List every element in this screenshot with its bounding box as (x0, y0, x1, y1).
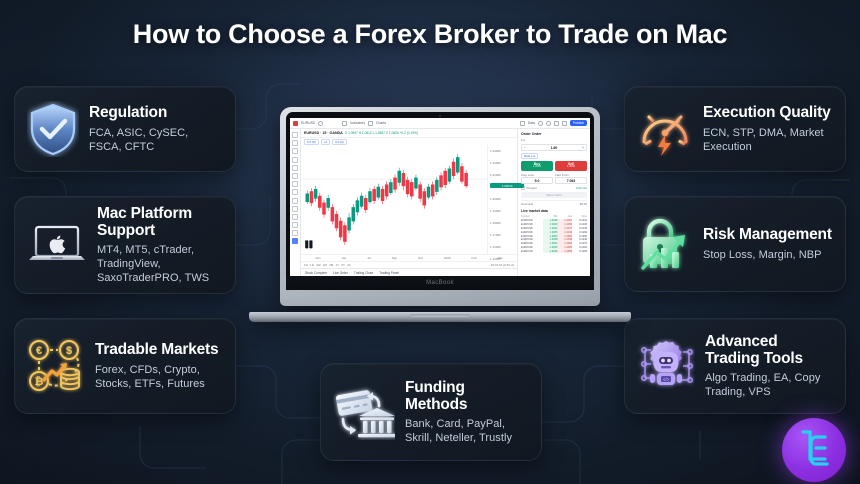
data-label[interactable]: Data (528, 121, 535, 125)
macbook-screen: EURUSD Indicators Charts Data (290, 118, 590, 276)
sl-tp-row: Stop Loss 5.0 Take Profit 7.063 (521, 173, 587, 184)
time-tick: Nov (418, 256, 423, 260)
app-toolbar: EURUSD Indicators Charts Data (290, 118, 590, 129)
trendline-tool-icon[interactable] (292, 140, 298, 146)
card-desc: MT4, MT5, cTrader, TradingView, SaxoTrad… (97, 243, 223, 285)
chart-clock-label: 18:44:15 (UTC-0) (491, 263, 514, 267)
lot-increment-icon[interactable]: + (582, 146, 584, 150)
price-tick: 1.18000 (490, 221, 501, 225)
price-axis[interactable]: 1.24000 1.23000 1.22000 1.20000 1.19000 … (487, 145, 517, 254)
objects-tree-icon[interactable] (292, 238, 298, 244)
balance-value: $8.35 (580, 202, 587, 206)
range-button[interactable]: 3M (329, 263, 333, 267)
time-tick: Nov (315, 256, 320, 260)
publish-button[interactable]: Publish (570, 120, 587, 126)
macbook-apple-icon (27, 221, 87, 269)
svg-text:€: € (36, 345, 42, 357)
table-row[interactable]: EUR/USD1.20461.20590.1136 (521, 250, 587, 254)
price-tick: 1.19000 (490, 209, 501, 213)
forecast-tool-icon[interactable] (292, 165, 298, 171)
measure-tool-icon[interactable] (292, 198, 298, 204)
lot-label: Lot (521, 138, 587, 142)
buy-price: 1.2064 (533, 166, 541, 169)
shield-check-icon (27, 101, 79, 157)
chart-chip-bar: 5 0 (9) +4 0 0 (0) (301, 138, 517, 145)
fib-tool-icon[interactable] (292, 148, 298, 154)
chart-chip[interactable]: 0 0 (0) (332, 139, 347, 145)
undo-icon[interactable] (389, 121, 394, 126)
tab-trading-panel[interactable]: Trading Panel (379, 271, 399, 275)
chart-plot-area[interactable]: 1.24000 1.23000 1.22000 1.20000 1.19000 … (301, 145, 517, 254)
card-desc: Bank, Card, PayPal, Skrill, Neteller, Tr… (405, 417, 529, 445)
candlestick-plot[interactable] (301, 145, 487, 254)
price-tick: 1.20000 (490, 197, 501, 201)
macbook-chin: MacBook (286, 276, 594, 290)
card-desc: ECN, STP, DMA, Market Execution (703, 126, 833, 154)
lot-mode-chip[interactable]: Rate Lot (521, 153, 538, 159)
gear-icon[interactable] (546, 121, 551, 126)
sell-price: 1.2062 (567, 166, 575, 169)
range-button[interactable]: 1Y (335, 263, 339, 267)
webcam-dot (439, 115, 442, 118)
price-tick: 1.17000 (490, 233, 501, 237)
fullscreen-icon[interactable] (554, 121, 559, 126)
time-axis[interactable]: Nov Jan Jul Sep Nov 2025 Feb Mar (301, 254, 517, 261)
price-tick: 1.15000 (490, 257, 501, 261)
interval-icon[interactable] (326, 121, 331, 126)
place-order-button[interactable]: Place Order (546, 193, 561, 197)
market-table-body: EUR/USD1.20481.20570.1231 EUR/USD1.20601… (521, 219, 587, 254)
card-risk-management[interactable]: Risk Management Stop Loss, Margin, NBP (624, 196, 846, 292)
symbol-bar: EURUSD · 15 · OANDA O 1.0597 H 1.0612 L … (301, 129, 517, 138)
live-market-table[interactable]: Symbol Bid Ask Stop EUR/USD1.20481.20570… (521, 215, 587, 253)
price-tick: 1.23000 (490, 161, 501, 165)
order-panel: Order Order Lot − 1.60 + Rate Lot (518, 129, 590, 276)
candle-type-icon[interactable] (334, 121, 339, 126)
lc-logo-icon (794, 429, 834, 471)
card-title: Mac Platform Support (97, 205, 223, 240)
range-button[interactable]: 1D (304, 263, 308, 267)
magnet-tool-icon[interactable] (292, 206, 298, 212)
camera-icon[interactable] (562, 121, 567, 126)
brand-logo-badge[interactable] (782, 418, 846, 482)
time-tick: 2025 (444, 256, 451, 260)
sell-button[interactable]: Sell 1.2062 (555, 161, 587, 171)
prepaid-label: Prepaid (527, 186, 537, 190)
time-tick: Jan (342, 256, 347, 260)
order-panel-title: Order Order (521, 132, 587, 136)
emoji-tool-icon[interactable] (292, 189, 298, 195)
macbook-lid: EURUSD Indicators Charts Data (280, 107, 600, 306)
hide-tool-icon[interactable] (292, 222, 298, 228)
card-regulation[interactable]: Regulation FCA, ASIC, CySEC, FSCA, CFTC (14, 86, 236, 172)
svg-text:</>: </> (663, 377, 670, 382)
page-title: How to Choose a Forex Broker to Trade on… (0, 19, 860, 50)
range-button[interactable]: 5Y (341, 263, 345, 267)
card-title: Risk Management (703, 226, 833, 243)
balance-label: Overview (521, 202, 533, 206)
lot-decrement-icon[interactable]: − (524, 146, 526, 150)
robot-gear-icon: </> (637, 338, 695, 394)
svg-text:₿: ₿ (35, 376, 44, 388)
card-title: Regulation (89, 104, 223, 121)
indicators-icon[interactable] (342, 121, 347, 126)
range-button[interactable]: 1W (316, 263, 321, 267)
cell-symbol: EUR/USD (521, 250, 543, 254)
cursor-tool-icon[interactable] (292, 132, 298, 138)
pattern-tool-icon[interactable] (292, 157, 298, 163)
stop-loss-value: 5.0 (535, 179, 540, 183)
macbook-brand-label: MacBook (426, 280, 454, 286)
svg-text:$: $ (66, 345, 72, 357)
chart-column: EURUSD · 15 · OANDA O 1.0597 H 1.0612 L … (301, 129, 518, 276)
tab-stock-compare[interactable]: Stock Compare (305, 271, 327, 275)
trade-buttons: Buy 1.2064 Sell 1.2062 (521, 161, 587, 171)
lot-value: 1.60 (551, 146, 558, 150)
macbook-mockup: EURUSD Indicators Charts Data (249, 107, 631, 322)
market-table-title: Live market data (521, 209, 587, 213)
price-tick: 1.22000 (490, 173, 501, 177)
time-tick: Sep (392, 256, 397, 260)
card-bank-transfer-icon (333, 384, 395, 440)
charts-icon[interactable] (368, 121, 373, 126)
card-tradable-markets[interactable]: €$₿ Tradable Markets Forex, CFDs, Crypto… (14, 318, 236, 414)
brush-tool-icon[interactable] (292, 173, 298, 179)
text-tool-icon[interactable] (292, 181, 298, 187)
take-profit-value: 7.063 (567, 179, 576, 183)
card-title: Execution Quality (703, 104, 833, 121)
range-button[interactable]: All (347, 263, 350, 267)
clock-icon[interactable] (318, 121, 323, 126)
app-logo-icon (293, 121, 298, 126)
price-tick: 1.24000 (490, 149, 501, 153)
cell-bid: 1.2046 (543, 250, 558, 254)
cell-ask: 1.2059 (557, 250, 572, 254)
time-tick: Jul (367, 256, 371, 260)
currency-coins-icon: €$₿ (27, 338, 85, 394)
lot-stepper[interactable]: − 1.60 + (521, 144, 587, 151)
buy-button[interactable]: Buy 1.2064 (521, 161, 553, 171)
replay-icon[interactable] (520, 121, 525, 126)
chart-chip[interactable]: 5 0 (9) (304, 139, 319, 145)
card-title: Funding Methods (405, 379, 529, 414)
chart-chip[interactable]: +4 (321, 139, 330, 145)
card-mac-platform-support[interactable]: Mac Platform Support MT4, MT5, cTrader, … (14, 196, 236, 294)
card-title: Advanced Trading Tools (705, 333, 833, 368)
time-tick: Feb (471, 256, 476, 260)
card-advanced-trading-tools[interactable]: </> Advanced Trading Tools Algo Trading,… (624, 318, 846, 414)
range-selector-bar: 1D 1D 1W 1M 3M 1Y 5Y All 18:44:15 (UT (301, 261, 517, 268)
infographic-canvas: How to Choose a Forex Broker to Trade on… (0, 0, 860, 484)
card-desc: FCA, ASIC, CySEC, FSCA, CFTC (89, 126, 223, 154)
chart-quote-label: O 1.0597 H 1.0612 L 1.0587 C 1.0606 +0.2… (345, 131, 418, 135)
card-desc: Stop Loss, Margin, NBP (703, 248, 833, 262)
symbol-search-input[interactable]: EURUSD (301, 121, 315, 125)
app-body: EURUSD · 15 · OANDA O 1.0597 H 1.0612 L … (290, 129, 590, 276)
macbook-bezel: EURUSD Indicators Charts Data (286, 112, 594, 290)
indicators-label[interactable]: Indicators (350, 121, 365, 125)
card-desc: Forex, CFDs, Crypto, Stocks, ETFs, Futur… (95, 363, 223, 391)
current-price-tag: 1.20640 (490, 183, 524, 188)
card-desc: Algo Trading, EA, Copy Trading, VPS (705, 371, 833, 399)
take-profit-input[interactable]: 7.063 (555, 177, 587, 184)
cell-stop: 0.1136 (572, 250, 587, 254)
card-funding-methods[interactable]: Funding Methods Bank, Card, PayPal, Skri… (320, 363, 542, 461)
bottom-tabs-bar: Stock Compare Live Order Trailing Close … (301, 268, 517, 276)
tab-trailing-close[interactable]: Trailing Close (354, 271, 373, 275)
range-button[interactable]: 1M (323, 263, 327, 267)
tab-live-order[interactable]: Live Order (333, 271, 348, 275)
drawing-tools-sidebar (290, 129, 301, 276)
prepaid-value: 0.04 min (576, 186, 587, 190)
speedometer-bolt-icon (637, 102, 693, 156)
chart-symbol-label[interactable]: EURUSD · 15 · OANDA (304, 131, 343, 135)
stop-loss-input[interactable]: 5.0 (521, 177, 553, 184)
lock-tool-icon[interactable] (292, 214, 298, 220)
lock-growth-icon (637, 216, 693, 272)
search-icon[interactable] (538, 121, 543, 126)
trash-tool-icon[interactable] (292, 230, 298, 236)
card-title: Tradable Markets (95, 341, 223, 358)
range-button[interactable]: 1D (310, 263, 314, 267)
price-tick: 1.16000 (490, 245, 501, 249)
card-execution-quality[interactable]: Execution Quality ECN, STP, DMA, Market … (624, 86, 846, 172)
macbook-notch (410, 314, 470, 317)
trading-platform-app: EURUSD Indicators Charts Data (290, 118, 590, 276)
charts-label[interactable]: Charts (376, 121, 386, 125)
